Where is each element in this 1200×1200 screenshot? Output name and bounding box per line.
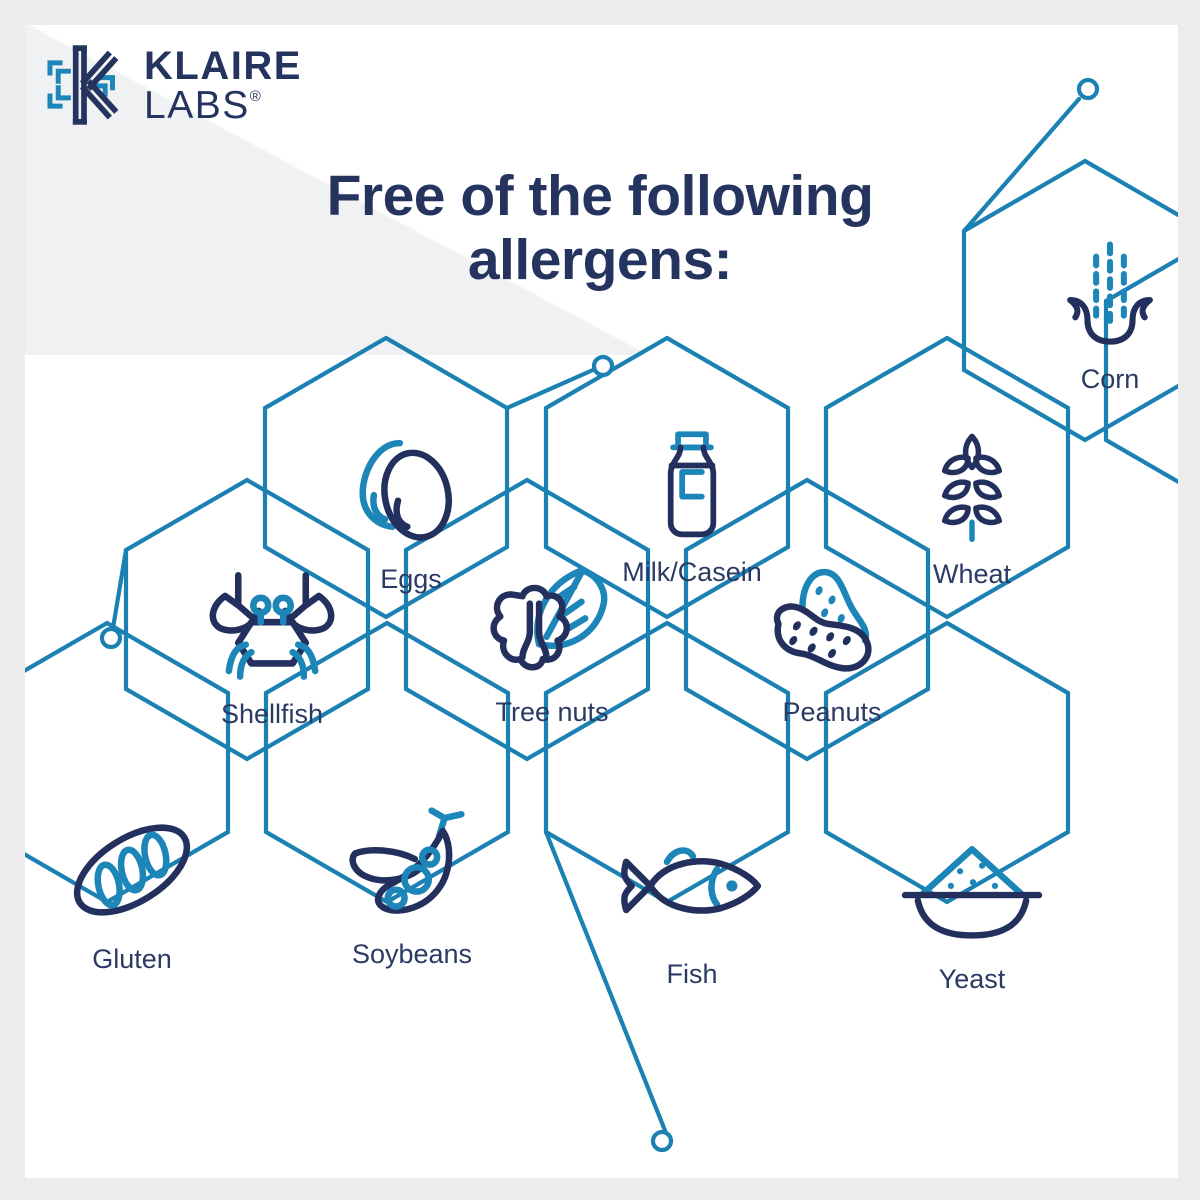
circle-node-icon [1079, 80, 1097, 98]
circle-node-icon [594, 357, 612, 375]
hex-outlines [25, 161, 1178, 902]
content-card: KLAIRE LABS ® Free of the following alle… [25, 25, 1178, 1178]
circle-node-icon [653, 1132, 671, 1150]
infographic-canvas: KLAIRE LABS ® Free of the following alle… [0, 0, 1200, 1200]
circle-node-icon [102, 629, 120, 647]
hexagon-honeycomb-grid [25, 25, 1178, 1178]
